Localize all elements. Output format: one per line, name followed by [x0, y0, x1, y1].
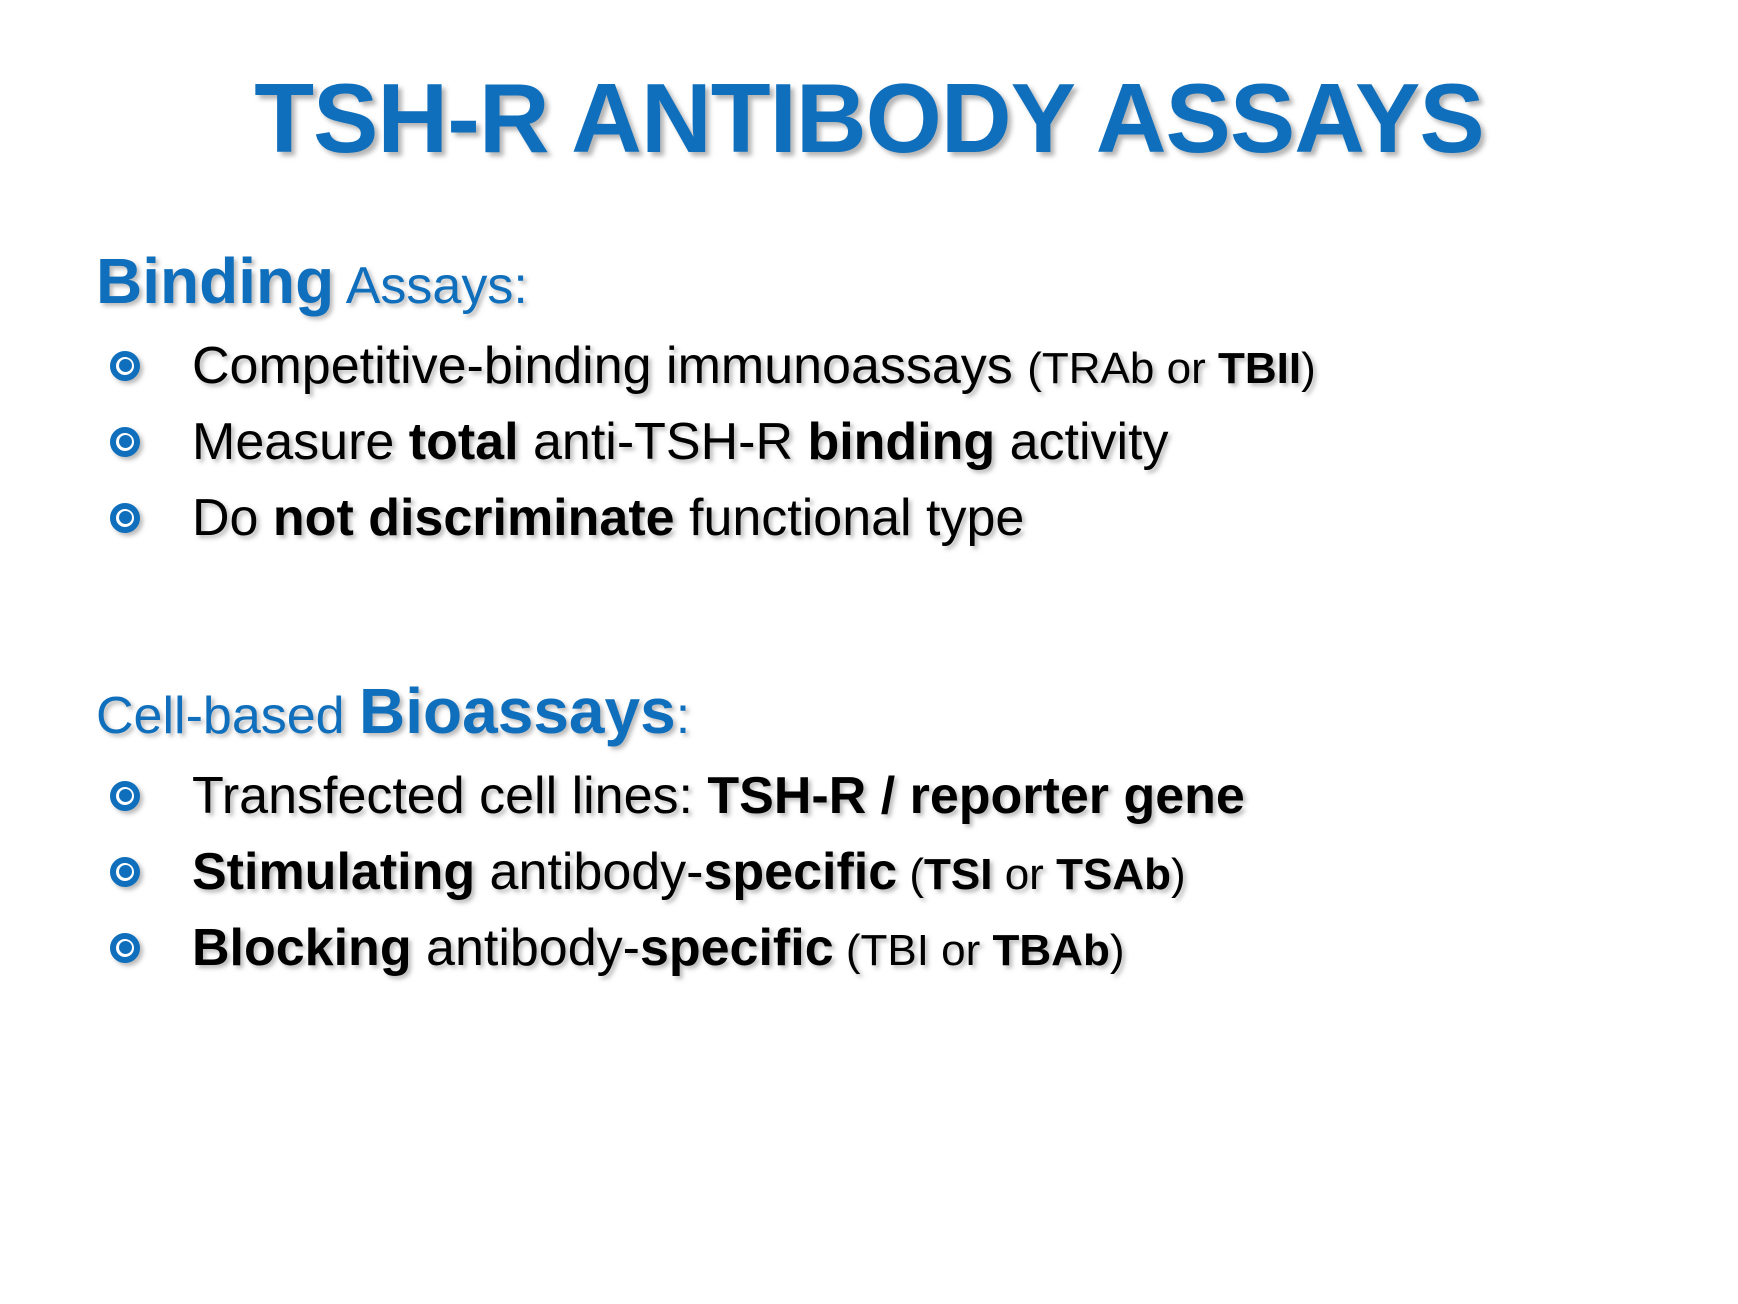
bullet-text: Stimulating antibody-specific (TSI or TS…	[192, 844, 1186, 900]
list-item: Competitive-binding immunoassays (TRAb o…	[96, 334, 1696, 398]
bullet-text: Do not discriminate functional type	[192, 490, 1024, 546]
ring-dot-bullet-icon	[110, 933, 140, 963]
bullet-text: Blocking antibody-specific (TBI or TBAb)	[192, 920, 1125, 976]
list-item: Measure total anti-TSH-R binding activit…	[96, 410, 1696, 474]
slide-body: Binding Assays: Competitive-binding immu…	[96, 248, 1696, 992]
ring-dot-bullet-icon	[110, 427, 140, 457]
list-item: Stimulating antibody-specific (TSI or TS…	[96, 840, 1696, 904]
slide-canvas: TSH-R ANTIBODY ASSAYS Binding Assays: Co…	[0, 0, 1738, 1304]
section-binding-assays: Binding Assays: Competitive-binding immu…	[96, 248, 1696, 550]
section-cell-based-bioassays: Cell-based Bioassays: Transfected cell l…	[96, 678, 1696, 980]
bullet-list-binding: Competitive-binding immunoassays (TRAb o…	[96, 334, 1696, 550]
heading-colon-suffix: :	[676, 687, 690, 745]
section-heading-binding: Binding Assays:	[96, 248, 1696, 316]
ring-dot-bullet-icon	[110, 351, 140, 381]
heading-light-assays: Assays:	[334, 257, 528, 315]
page-title: TSH-R ANTIBODY ASSAYS	[0, 62, 1738, 175]
ring-dot-bullet-icon	[110, 781, 140, 811]
heading-strong-bioassays: Bioassays	[359, 675, 676, 747]
ring-dot-bullet-icon	[110, 857, 140, 887]
bullet-list-bioassays: Transfected cell lines: TSH-R / reporter…	[96, 764, 1696, 980]
ring-dot-bullet-icon	[110, 503, 140, 533]
heading-strong-binding: Binding	[96, 245, 334, 317]
list-item: Blocking antibody-specific (TBI or TBAb)	[96, 916, 1696, 980]
section-heading-bioassays: Cell-based Bioassays:	[96, 678, 1696, 746]
list-item: Transfected cell lines: TSH-R / reporter…	[96, 764, 1696, 828]
list-item: Do not discriminate functional type	[96, 486, 1696, 550]
bullet-text: Transfected cell lines: TSH-R / reporter…	[192, 768, 1245, 824]
bullet-text: Measure total anti-TSH-R binding activit…	[192, 414, 1169, 470]
bullet-text: Competitive-binding immunoassays (TRAb o…	[192, 338, 1316, 394]
heading-light-cell-based: Cell-based	[96, 687, 359, 745]
